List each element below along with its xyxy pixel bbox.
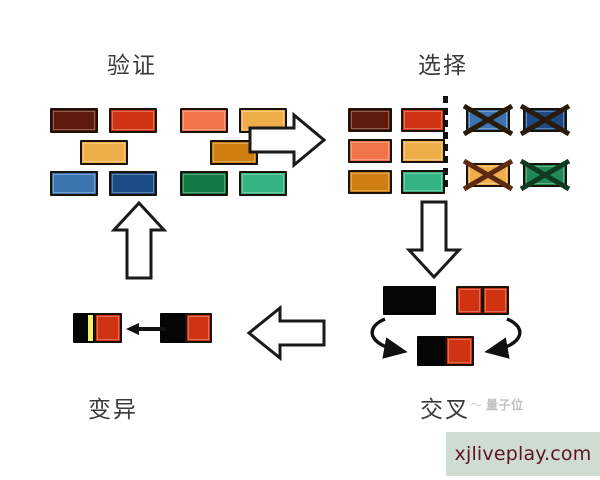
block-highlight [242, 174, 284, 193]
gene-block [109, 171, 157, 196]
block-highlight [97, 316, 119, 340]
qbit-watermark: 〜 量子位 [470, 396, 524, 413]
arrow-crossover-to-mutation-icon [246, 304, 326, 362]
block-highlight [112, 111, 154, 130]
block-highlight [53, 111, 95, 130]
block-highlight [404, 142, 442, 160]
crossover-curve-arrows-icon [355, 285, 545, 385]
qbit-logo-icon: 〜 [470, 399, 482, 411]
block-highlight [351, 142, 389, 160]
block-highlight [351, 173, 389, 191]
kept-block [348, 108, 392, 132]
block-highlight [183, 111, 225, 130]
selection-divider [443, 96, 448, 190]
mutated-chromosome-left [73, 313, 87, 343]
kept-block [348, 170, 392, 194]
block-highlight [183, 174, 225, 193]
site-watermark-badge: xjliveplay.com [446, 432, 600, 476]
kept-block [401, 170, 445, 194]
reject-x-icon [460, 157, 516, 193]
gene-block [109, 108, 157, 133]
arrow-mutation-to-validate-icon [110, 200, 168, 280]
genetic-algorithm-diagram: 验证 选择 变异 交叉 [0, 0, 600, 480]
reject-x-icon [517, 157, 573, 193]
stage-label-validate: 验证 [107, 46, 157, 80]
stage-label-crossover: 交叉 [420, 390, 470, 424]
block-highlight [53, 174, 95, 193]
gene-block [50, 108, 98, 133]
kept-block [401, 139, 445, 163]
qbit-watermark-text: 量子位 [486, 396, 524, 413]
block-highlight [112, 174, 154, 193]
block-highlight [188, 316, 209, 340]
block-highlight [404, 173, 442, 191]
arrow-select-to-crossover-icon [405, 200, 463, 280]
reject-x-icon [460, 102, 516, 138]
stage-label-select: 选择 [418, 46, 468, 80]
gene-block [239, 171, 287, 196]
gene-block [180, 108, 228, 133]
mutation-arrow-icon [124, 318, 168, 340]
reject-x-icon [517, 102, 573, 138]
block-highlight [83, 143, 125, 162]
original-chromosome-right [185, 313, 212, 343]
arrow-validate-to-select-icon [248, 112, 326, 168]
block-highlight [351, 111, 389, 129]
gene-block [50, 171, 98, 196]
block-highlight [404, 111, 442, 129]
kept-block [348, 139, 392, 163]
gene-block [80, 140, 128, 165]
kept-block [401, 108, 445, 132]
site-watermark-text: xjliveplay.com [455, 443, 592, 465]
mutated-chromosome-right [94, 313, 122, 343]
gene-block [180, 171, 228, 196]
stage-label-mutation: 变异 [88, 390, 138, 424]
